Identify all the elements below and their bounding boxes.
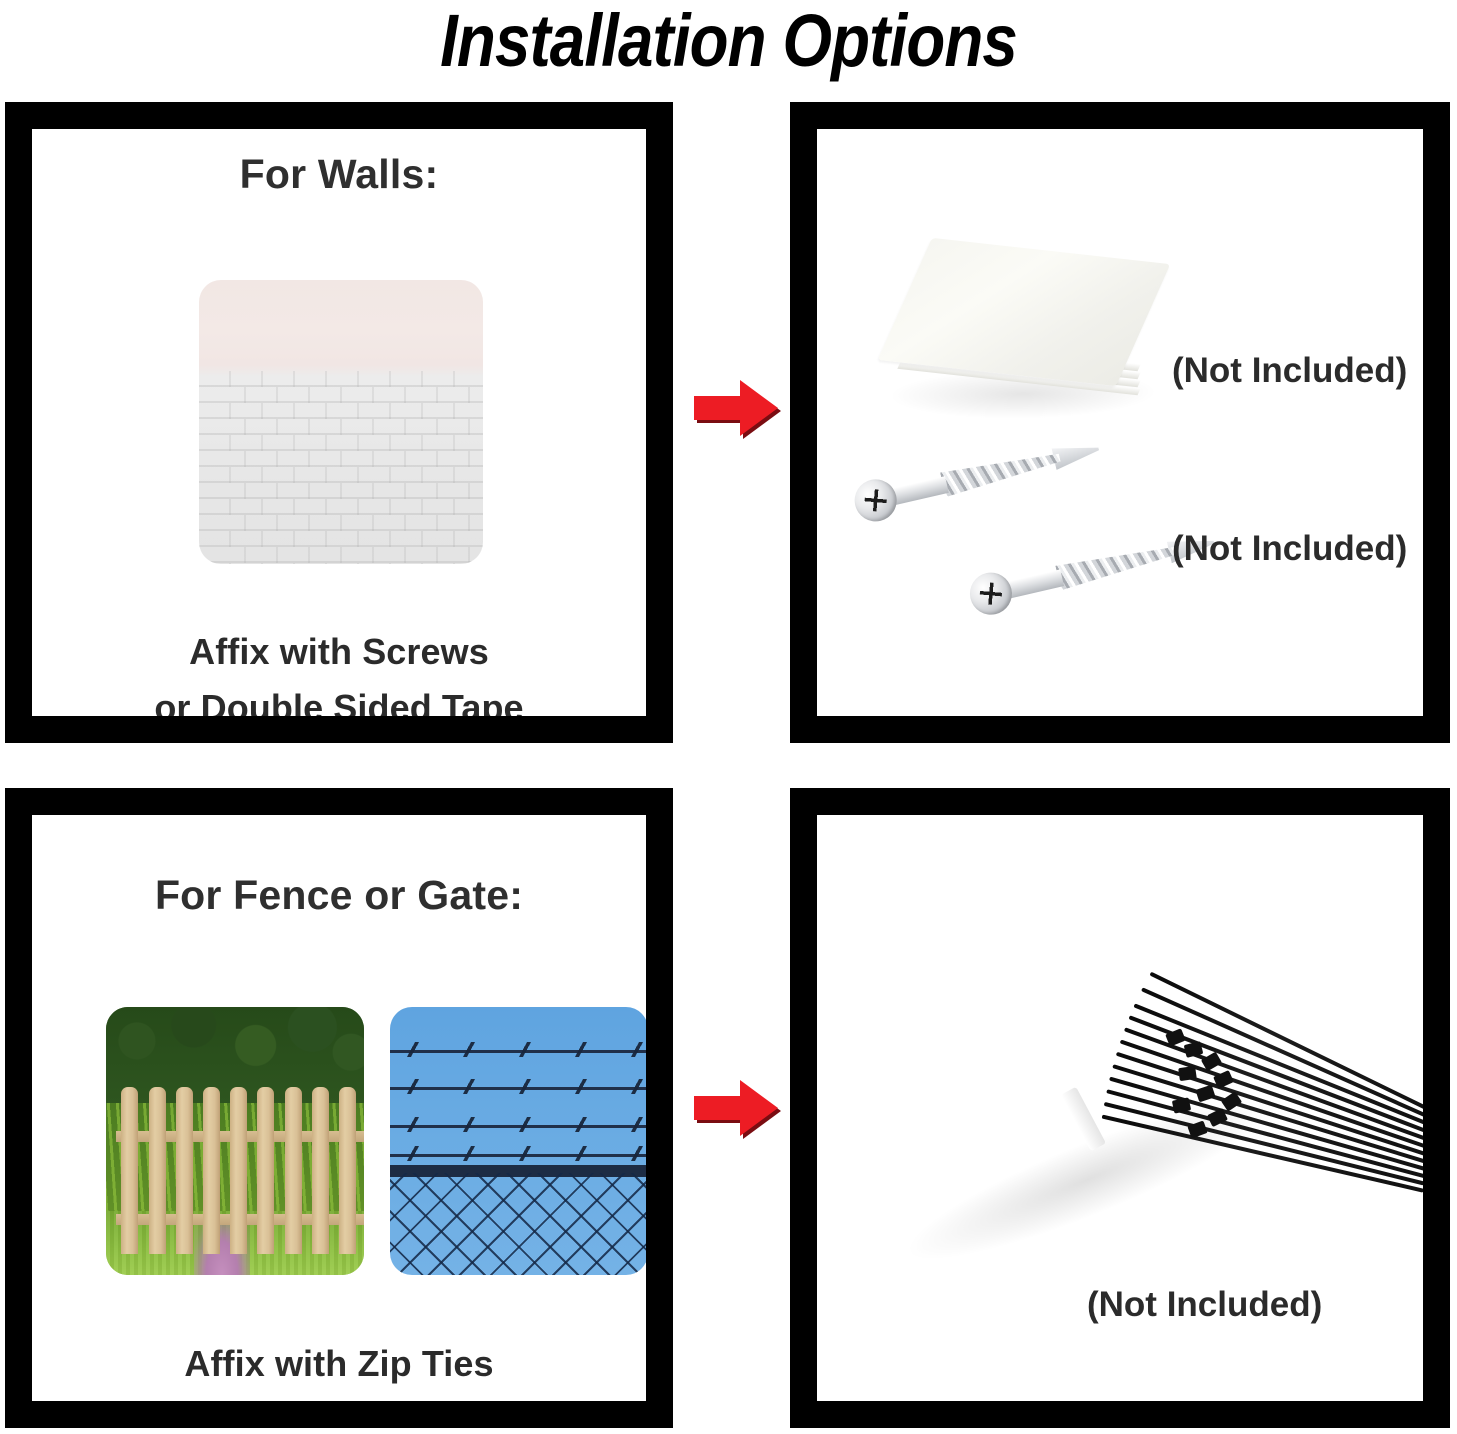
fence-picket	[176, 1087, 193, 1253]
panel-wall-hardware: (Not Included) (Not Included)	[790, 102, 1450, 743]
fence-picket	[285, 1087, 302, 1253]
barbed-wire-barbs	[390, 1146, 646, 1161]
chain-link-mesh	[390, 1173, 646, 1275]
fence-picket	[230, 1087, 247, 1253]
double-sided-tape-stack	[879, 251, 1179, 426]
not-included-label-screws: (Not Included)	[1172, 529, 1407, 569]
fence-picket	[203, 1087, 220, 1253]
page-title: Installation Options	[102, 0, 1355, 84]
fence-picket	[149, 1087, 166, 1253]
wood-screw-upper	[847, 414, 1107, 540]
fence-picket	[339, 1087, 356, 1253]
not-included-label-zip-ties: (Not Included)	[1087, 1285, 1322, 1325]
picket-fence-boards	[116, 1087, 364, 1253]
barbed-wire-barbs	[390, 1042, 646, 1057]
barbed-wire-barbs	[390, 1117, 646, 1132]
zip-tie-bundle-band	[1061, 1087, 1106, 1151]
screw-shank	[1004, 569, 1064, 599]
phillips-slot-icon	[864, 488, 888, 512]
phillips-slot-icon	[979, 582, 1003, 606]
screw-threads	[1055, 537, 1179, 593]
fence-picket	[257, 1087, 274, 1253]
caption-walls-line-2: or Double Sided Tape	[32, 687, 646, 716]
panel-for-fence-or-gate: For Fence or Gate:	[5, 788, 673, 1428]
brick-columns-offset-texture	[214, 371, 483, 564]
zip-tie-head	[1178, 1066, 1197, 1081]
barbed-wire-chain-link-fence-photo	[390, 1007, 646, 1275]
barbed-wire-barbs	[390, 1079, 646, 1094]
not-included-label-tape: (Not Included)	[1172, 351, 1407, 391]
black-zip-ties-bundle	[867, 935, 1347, 1315]
white-brick-wall-photo	[199, 280, 483, 564]
wooden-picket-fence-photo	[106, 1007, 364, 1275]
panel-fence-hardware: (Not Included)	[790, 788, 1450, 1428]
caption-walls-line-1: Affix with Screws	[32, 631, 646, 673]
panel-for-walls: For Walls: Affix with Screws or Double S…	[5, 102, 673, 743]
panel-heading-fence: For Fence or Gate:	[32, 872, 646, 919]
caption-fence: Affix with Zip Ties	[32, 1343, 646, 1385]
fence-picket	[312, 1087, 329, 1253]
arrow-right-icon-walls	[690, 376, 782, 440]
screw-threads	[940, 443, 1064, 499]
fence-picket	[121, 1087, 138, 1253]
screw-tip	[1052, 438, 1102, 470]
panel-heading-walls: For Walls:	[32, 151, 646, 198]
screw-shank	[888, 476, 948, 506]
arrow-right-icon-fence	[690, 1076, 782, 1140]
